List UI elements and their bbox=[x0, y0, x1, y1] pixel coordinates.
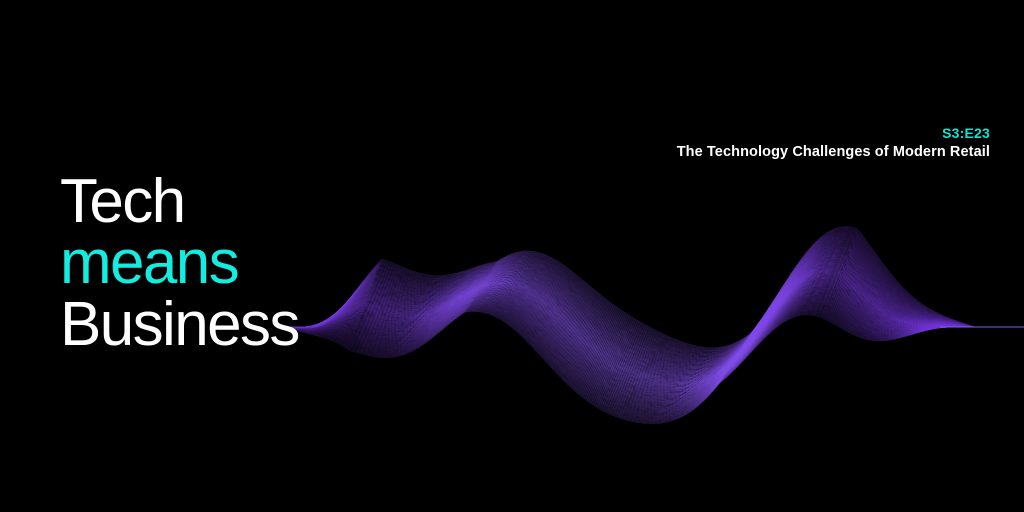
episode-number-badge: S3:E23 bbox=[677, 126, 990, 141]
waveform-line bbox=[286, 273, 1022, 386]
waveform-line bbox=[286, 259, 1022, 374]
waveform-line bbox=[286, 281, 1022, 393]
waveform-line bbox=[286, 312, 1022, 424]
episode-title: The Technology Challenges of Modern Reta… bbox=[677, 145, 990, 161]
waveform-line bbox=[286, 290, 1022, 401]
waveform-line bbox=[286, 240, 1022, 359]
waveform-line bbox=[286, 251, 1022, 367]
waveform-line bbox=[286, 254, 1022, 370]
waveform-line bbox=[286, 229, 1022, 350]
waveform-line bbox=[286, 295, 1022, 406]
waveform-line bbox=[286, 310, 1022, 421]
waveform-line bbox=[286, 248, 1022, 365]
waveform-line bbox=[286, 244, 1022, 362]
waveform-line bbox=[286, 253, 1022, 369]
waveform-line bbox=[286, 230, 1022, 351]
show-title-line-three: Business bbox=[60, 294, 299, 355]
waveform-line bbox=[286, 309, 1022, 420]
show-title: Tech means Business bbox=[60, 171, 299, 355]
waveform-line bbox=[286, 237, 1022, 356]
waveform-line bbox=[286, 288, 1022, 399]
waveform-line bbox=[286, 233, 1022, 353]
waveform-line bbox=[286, 235, 1022, 355]
waveform-line bbox=[286, 298, 1022, 408]
waveform-line bbox=[286, 293, 1022, 404]
waveform-line bbox=[286, 311, 1022, 423]
waveform-line bbox=[286, 307, 1022, 417]
waveform-line-group bbox=[286, 227, 1024, 424]
waveform-line bbox=[286, 227, 1022, 348]
waveform-line bbox=[286, 266, 1022, 380]
waveform-line bbox=[286, 310, 1022, 422]
waveform-line bbox=[286, 260, 1022, 375]
waveform-line bbox=[286, 279, 1022, 391]
waveform-line bbox=[286, 300, 1022, 410]
waveform-line bbox=[286, 250, 1022, 367]
waveform-line bbox=[286, 303, 1022, 413]
waveform-line bbox=[286, 270, 1022, 384]
waveform-line bbox=[286, 236, 1022, 355]
waveform-line bbox=[286, 256, 1022, 372]
waveform-line bbox=[286, 299, 1022, 409]
waveform-line bbox=[286, 228, 1022, 349]
waveform-line bbox=[286, 245, 1022, 363]
waveform-line bbox=[286, 257, 1022, 372]
waveform-line bbox=[286, 262, 1022, 377]
waveform-line bbox=[286, 258, 1022, 373]
waveform-line bbox=[286, 238, 1022, 357]
waveform-line bbox=[286, 286, 1022, 397]
waveform-line bbox=[286, 255, 1022, 371]
waveform-line bbox=[286, 296, 1022, 406]
waveform-line bbox=[286, 234, 1022, 354]
waveform-line bbox=[286, 249, 1022, 366]
waveform-line bbox=[286, 271, 1022, 384]
waveform-line bbox=[286, 272, 1022, 385]
waveform-line bbox=[286, 264, 1022, 378]
waveform-line bbox=[286, 274, 1022, 387]
waveform-line bbox=[286, 232, 1022, 352]
waveform-line bbox=[286, 242, 1022, 360]
title-card-canvas: S3:E23 The Technology Challenges of Mode… bbox=[0, 0, 1024, 512]
waveform-line bbox=[286, 282, 1022, 394]
waveform-line bbox=[286, 308, 1022, 419]
waveform-line bbox=[286, 278, 1022, 390]
waveform-line bbox=[286, 261, 1022, 376]
waveform-line bbox=[286, 276, 1022, 389]
waveform-line bbox=[286, 254, 1022, 370]
waveform-line bbox=[286, 243, 1022, 361]
waveform-line bbox=[286, 306, 1022, 416]
waveform-line bbox=[286, 263, 1022, 378]
waveform-line bbox=[286, 265, 1022, 379]
waveform-line bbox=[286, 287, 1022, 398]
waveform-line bbox=[286, 247, 1022, 364]
waveform-line bbox=[286, 249, 1022, 366]
waveform-line bbox=[286, 289, 1022, 400]
waveform-line bbox=[286, 284, 1022, 396]
waveform-line bbox=[286, 283, 1022, 395]
waveform-line bbox=[286, 231, 1022, 351]
waveform-line bbox=[286, 275, 1022, 388]
waveform-line bbox=[286, 267, 1022, 381]
waveform-line bbox=[286, 305, 1022, 415]
waveform-line bbox=[286, 304, 1022, 414]
waveform-line bbox=[286, 291, 1022, 402]
waveform-line bbox=[286, 239, 1022, 358]
waveform-line bbox=[286, 268, 1022, 382]
waveform-line bbox=[286, 307, 1022, 417]
waveform-line bbox=[286, 292, 1022, 403]
waveform-line bbox=[286, 241, 1022, 359]
waveform-line bbox=[286, 277, 1022, 390]
waveform-line bbox=[286, 308, 1022, 418]
waveform-line bbox=[286, 301, 1022, 411]
show-title-line-two: means bbox=[60, 232, 299, 293]
waveform-line bbox=[286, 294, 1022, 405]
waveform-line bbox=[286, 285, 1022, 397]
waveform-line bbox=[286, 302, 1022, 412]
episode-meta: S3:E23 The Technology Challenges of Mode… bbox=[677, 126, 990, 161]
waveform-line bbox=[286, 269, 1022, 383]
waveform-line bbox=[286, 246, 1022, 363]
waveform-line bbox=[286, 297, 1022, 407]
waveform-line bbox=[286, 280, 1022, 392]
show-title-line-one: Tech bbox=[60, 171, 299, 232]
